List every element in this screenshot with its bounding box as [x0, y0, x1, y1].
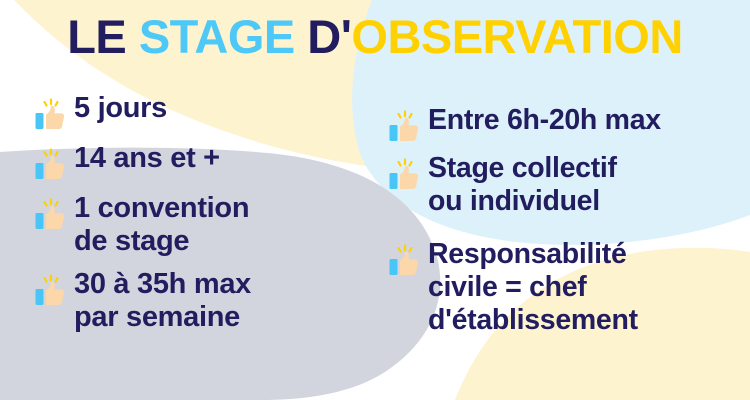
thumbs-up-icon — [34, 148, 68, 182]
list-item-label: 5 jours — [74, 92, 167, 125]
title-segment-d: D' — [307, 10, 351, 63]
thumbs-up-icon — [34, 98, 68, 132]
list-item: 14 ans et + — [34, 142, 364, 182]
title-segment-observation: OBSERVATION — [351, 10, 682, 63]
list-item-label: 1 convention de stage — [74, 192, 249, 258]
thumbs-up-icon — [388, 158, 422, 192]
thumbs-up-icon — [34, 274, 68, 308]
left-bullet-column: 5 jours 14 ans et + — [34, 92, 364, 340]
list-item: Entre 6h-20h max — [388, 104, 748, 144]
thumbs-up-icon — [34, 198, 68, 232]
title-segment-stage: STAGE — [139, 10, 307, 63]
list-item-label: Responsabilité civile = chef d'établisse… — [428, 238, 638, 337]
thumbs-up-icon — [388, 110, 422, 144]
poster-title: LE STAGE D'OBSERVATION — [0, 8, 750, 66]
title-segment-le: LE — [67, 10, 139, 63]
list-item-label: 30 à 35h max par semaine — [74, 268, 251, 334]
list-item-label: Stage collectif ou individuel — [428, 152, 617, 218]
list-item: 1 convention de stage — [34, 192, 364, 258]
list-item-label: Entre 6h-20h max — [428, 104, 661, 137]
thumbs-up-icon — [388, 244, 422, 278]
list-item: 30 à 35h max par semaine — [34, 268, 364, 334]
right-bullet-column: Entre 6h-20h max Stage collectif ou indi… — [388, 104, 748, 343]
list-item: 5 jours — [34, 92, 364, 132]
list-item-label: 14 ans et + — [74, 142, 220, 175]
list-item: Responsabilité civile = chef d'établisse… — [388, 238, 748, 337]
infographic-poster: LE STAGE D'OBSERVATION 5 jours — [0, 0, 750, 400]
list-item: Stage collectif ou individuel — [388, 152, 748, 218]
